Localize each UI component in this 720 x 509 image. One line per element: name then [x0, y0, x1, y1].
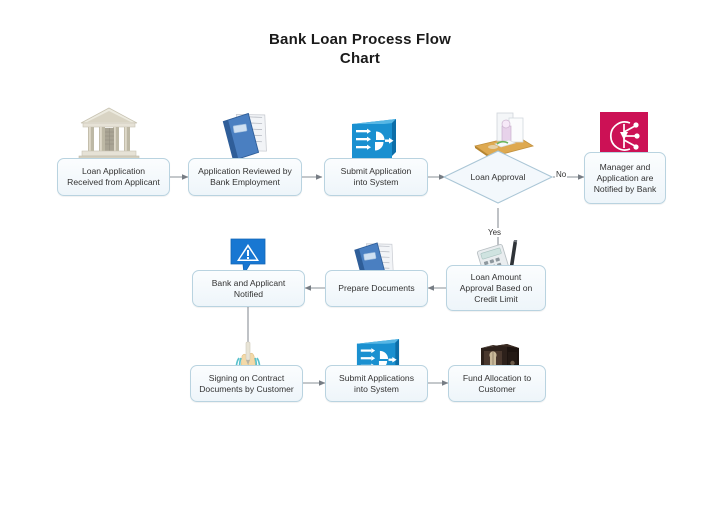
node-label-line-3: Credit Limit [474, 294, 517, 304]
flowchart-canvas: Bank Loan Process Flow Chart [0, 0, 720, 509]
node-fund-allocation[interactable]: Fund Allocation to Customer [448, 365, 546, 402]
page-title: Bank Loan Process Flow Chart [180, 30, 540, 68]
node-loan-amount-approval[interactable]: Loan Amount Approval Based on Credit Lim… [446, 265, 546, 311]
node-label: Loan Amount Approval Based on Credit Lim… [451, 272, 541, 305]
node-label: Submit Application into System [329, 166, 423, 188]
node-label: Loan Application Received from Applicant [62, 166, 165, 188]
node-label-line-2: Application are [597, 173, 654, 183]
node-label-line-1: Signing on Contract [209, 373, 284, 383]
edge-label-yes: Yes [487, 228, 502, 237]
node-label-line-1: Loan Amount [471, 272, 522, 282]
bank-building-icon [78, 106, 140, 162]
node-label-line-1: Submit Applications [339, 373, 414, 383]
node-label: Submit Applications into System [330, 373, 423, 395]
node-label-line-2: Approval Based on [460, 283, 533, 293]
node-label: Manager and Application are Notified by … [589, 162, 661, 195]
node-label-line-1: Application Reviewed by [198, 166, 292, 176]
node-label-line-2: into System [354, 177, 399, 187]
node-manager-notified[interactable]: Manager and Application are Notified by … [584, 152, 666, 204]
node-label-line-1: Bank and Applicant [212, 278, 286, 288]
node-label: Fund Allocation to Customer [453, 373, 541, 395]
page-title-line-1: Bank Loan Process Flow [180, 30, 540, 49]
node-label: Bank and Applicant Notified [197, 278, 300, 300]
node-label: Loan Approval [451, 172, 546, 182]
node-loan-application-received[interactable]: Loan Application Received from Applicant [57, 158, 170, 196]
node-application-reviewed[interactable]: Application Reviewed by Bank Employment [188, 158, 302, 196]
node-bank-and-applicant-notified[interactable]: Bank and Applicant Notified [192, 270, 305, 307]
node-label-line-2: Received from Applicant [67, 177, 160, 187]
connectors-layer [0, 0, 720, 509]
node-label-line-2: Notified [234, 289, 263, 299]
node-label-line-1: Loan Application [82, 166, 145, 176]
node-label-line-1: Fund Allocation to [463, 373, 531, 383]
node-label: Application Reviewed by Bank Employment [193, 166, 297, 188]
page-title-line-2: Chart [180, 49, 540, 68]
node-label-line-1: Manager and [600, 162, 651, 172]
node-label-line-2: Bank Employment [210, 177, 280, 187]
node-submit-applications-into-system[interactable]: Submit Applications into System [325, 365, 428, 402]
node-label: Prepare Documents [330, 283, 423, 294]
node-label: Signing on Contract Documents by Custome… [195, 373, 298, 395]
node-signing-on-contract[interactable]: Signing on Contract Documents by Custome… [190, 365, 303, 402]
node-label-line-2: Documents by Customer [199, 384, 294, 394]
node-loan-approval-decision[interactable]: Loan Approval [443, 150, 553, 204]
node-label-line-3: Notified by Bank [594, 184, 657, 194]
node-label-line-2: Customer [478, 384, 515, 394]
edge-label-no: No [555, 170, 567, 179]
node-submit-application-into-system[interactable]: Submit Application into System [324, 158, 428, 196]
node-label-line-1: Submit Application [341, 166, 412, 176]
node-label-line-2: into System [354, 384, 399, 394]
node-prepare-documents[interactable]: Prepare Documents [325, 270, 428, 307]
